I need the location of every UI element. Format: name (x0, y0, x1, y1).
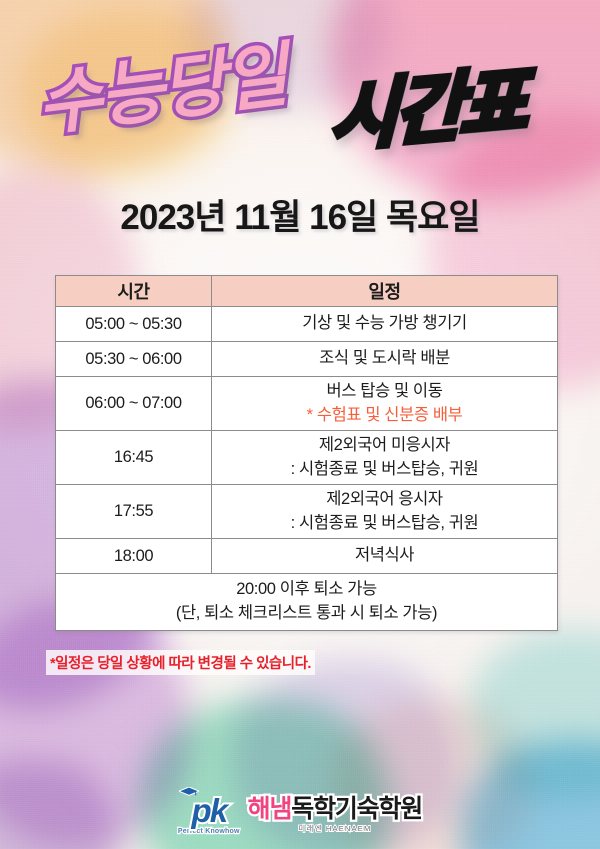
table-header-row: 시간 일정 (56, 276, 558, 307)
academy-logo: pk Perfect Knowhow 해냄독학기숙학원 미래엔 HAENAEM (0, 794, 600, 835)
schedule-line: 버스 탑승 및 이동 (212, 380, 557, 404)
schedule-line-accent: * 수험표 및 신분증 배부 (212, 404, 557, 428)
header-schedule: 일정 (212, 276, 558, 307)
schedule-table: 시간 일정 05:00 ~ 05:30 기상 및 수능 가방 챙기기 05:30… (55, 275, 558, 631)
cell-time: 05:30 ~ 06:00 (56, 342, 212, 377)
cell-schedule: 버스 탑승 및 이동 * 수험표 및 신분증 배부 (212, 377, 558, 431)
disclaimer-note: *일정은 당일 상황에 따라 변경될 수 있습니다. (46, 650, 315, 675)
schedule-line: 제2외국어 미응시자 (212, 434, 557, 458)
table-row: 17:55 제2외국어 응시자 : 시험종료 및 버스탑승, 귀원 (56, 485, 558, 539)
logo-tagline: Perfect Knowhow (178, 828, 240, 835)
schedule-line: 기상 및 수능 가방 챙기기 (212, 312, 557, 336)
title-primary: 수능당일 (31, 19, 291, 150)
schedule-line: 저녁식사 (212, 544, 557, 568)
cell-time: 05:00 ~ 05:30 (56, 307, 212, 342)
checkout-line-2: (단, 퇴소 체크리스트 통과 시 퇴소 가능) (56, 602, 557, 626)
cell-schedule: 제2외국어 응시자 : 시험종료 및 버스탑승, 귀원 (212, 485, 558, 539)
schedule-line: 제2외국어 응시자 (212, 488, 557, 512)
cell-time: 16:45 (56, 431, 212, 485)
logo-name-rest: 독학기숙학원 (291, 795, 422, 823)
poster-canvas: 수능당일 시간표 2023년 11월 16일 목요일 시간 일정 05:00 ~… (0, 0, 600, 849)
cell-time: 06:00 ~ 07:00 (56, 377, 212, 431)
logo-wordmark: 해냄독학기숙학원 미래엔 HAENAEM (248, 797, 422, 833)
logo-academy-name: 해냄독학기숙학원 (248, 797, 422, 822)
cell-schedule: 제2외국어 미응시자 : 시험종료 및 버스탑승, 귀원 (212, 431, 558, 485)
logo-subtitle: 미래엔 HAENAEM (298, 825, 371, 833)
blob-mint-right (470, 630, 600, 800)
schedule-line: : 시험종료 및 버스탑승, 귀원 (212, 512, 557, 536)
schedule-line: : 시험종료 및 버스탑승, 귀원 (212, 458, 557, 482)
title-secondary: 시간표 (329, 41, 525, 166)
header-time: 시간 (56, 276, 212, 307)
table-row: 18:00 저녁식사 (56, 539, 558, 574)
cell-checkout-note: 20:00 이후 퇴소 가능 (단, 퇴소 체크리스트 통과 시 퇴소 가능) (56, 574, 558, 631)
cell-time: 17:55 (56, 485, 212, 539)
table-row: 06:00 ~ 07:00 버스 탑승 및 이동 * 수험표 및 신분증 배부 (56, 377, 558, 431)
checkout-line-1: 20:00 이후 퇴소 가능 (56, 578, 557, 602)
table-footer-row: 20:00 이후 퇴소 가능 (단, 퇴소 체크리스트 통과 시 퇴소 가능) (56, 574, 558, 631)
cell-schedule: 저녁식사 (212, 539, 558, 574)
poster-date: 2023년 11월 16일 목요일 (0, 189, 600, 240)
poster-headline: 수능당일 시간표 (0, 24, 600, 154)
table-row: 16:45 제2외국어 미응시자 : 시험종료 및 버스탑승, 귀원 (56, 431, 558, 485)
table-row: 05:30 ~ 06:00 조식 및 도시락 배분 (56, 342, 558, 377)
logo-initials: pk (192, 794, 227, 827)
cell-schedule: 조식 및 도시락 배분 (212, 342, 558, 377)
cell-schedule: 기상 및 수능 가방 챙기기 (212, 307, 558, 342)
logo-name-highlight: 해냄 (248, 795, 292, 823)
table-row: 05:00 ~ 05:30 기상 및 수능 가방 챙기기 (56, 307, 558, 342)
schedule-line: 조식 및 도시락 배분 (212, 347, 557, 371)
graduation-cap-icon (179, 785, 199, 795)
cell-time: 18:00 (56, 539, 212, 574)
logo-mark: pk Perfect Knowhow (178, 794, 240, 835)
